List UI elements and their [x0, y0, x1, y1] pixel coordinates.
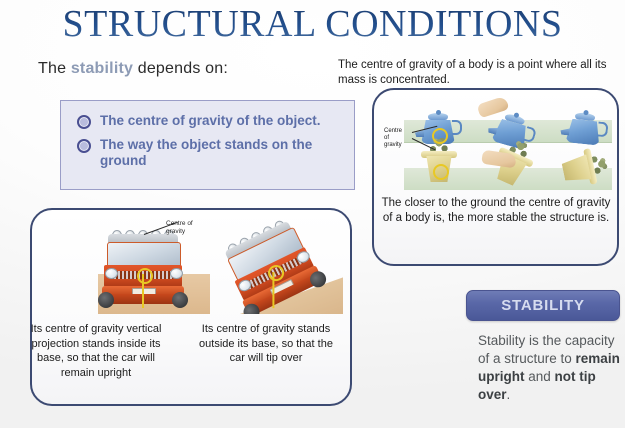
car-scene — [205, 218, 345, 314]
teapot-upright — [418, 110, 458, 144]
car-scene: Centre of gravity — [70, 218, 210, 314]
bullet-marker-icon — [77, 115, 91, 129]
cog-definition-text: The centre of gravity of a body is a poi… — [338, 58, 623, 88]
subhead-highlight: stability — [71, 60, 133, 77]
teapot-body — [565, 118, 601, 145]
bullet-label: The centre of gravity of the object. — [100, 113, 321, 129]
bullet-marker-icon — [77, 139, 91, 153]
car-cog-label: Centre of gravity — [166, 220, 206, 236]
headlight-right-icon — [170, 268, 183, 279]
wheel-left — [98, 292, 114, 308]
subhead-pre: The — [38, 60, 71, 77]
bullet-box: The centre of gravity of the object. The… — [60, 100, 355, 190]
pots-cog-label-line3: gravity — [384, 142, 402, 148]
pots-cog-label: Centre of gravity — [384, 128, 412, 149]
car-cog-label-line1: Centre of — [166, 220, 193, 227]
cog-marker-icon — [433, 164, 449, 180]
flowerpot-upright — [420, 142, 458, 182]
slide-root: STRUCTURAL CONDITIONS The stability depe… — [0, 0, 625, 428]
stability-definition-text: Stability is the capacity of a structure… — [478, 332, 624, 404]
car-cog-label-line2: gravity — [166, 228, 185, 235]
status-badge: STABILITY — [466, 290, 620, 321]
car-tipping-illustration — [205, 218, 345, 314]
pots-cog-label-line1: Centre — [384, 128, 402, 134]
list-item: The centre of gravity of the object. — [77, 113, 344, 129]
list-item: The way the object stands on the ground — [77, 137, 344, 169]
car-caption-upright: Its centre of gravity vertical projectio… — [20, 322, 172, 380]
stability-part-3: . — [507, 387, 511, 402]
car-upright-illustration: Centre of gravity — [70, 218, 210, 314]
cog-marker-icon — [137, 268, 153, 284]
subhead: The stability depends on: — [38, 60, 228, 78]
teapot-knob — [436, 110, 441, 115]
bullet-list: The centre of gravity of the object. The… — [61, 101, 354, 169]
teapot-settling — [562, 108, 605, 146]
headlight-left-icon — [105, 268, 118, 279]
flowerpot-fallen — [559, 145, 606, 190]
status-badge-label: STABILITY — [501, 297, 585, 314]
subhead-post: depends on: — [133, 60, 228, 77]
pots-cog-label-line2: of — [384, 135, 389, 141]
teapot-pot-illustration: Centre of gravity — [382, 94, 612, 190]
page-title: STRUCTURAL CONDITIONS — [0, 2, 625, 46]
bullet-label: The way the object stands on the ground — [100, 137, 335, 169]
pots-caption: The closer to the ground the centre of g… — [378, 196, 614, 226]
car-body — [102, 234, 184, 306]
car-caption-tipping: Its centre of gravity stands outside its… — [190, 322, 342, 366]
wheel-right — [172, 292, 188, 308]
stability-part-2: and — [525, 369, 555, 384]
cog-marker-icon — [432, 128, 448, 144]
teapot-handle — [452, 120, 462, 135]
